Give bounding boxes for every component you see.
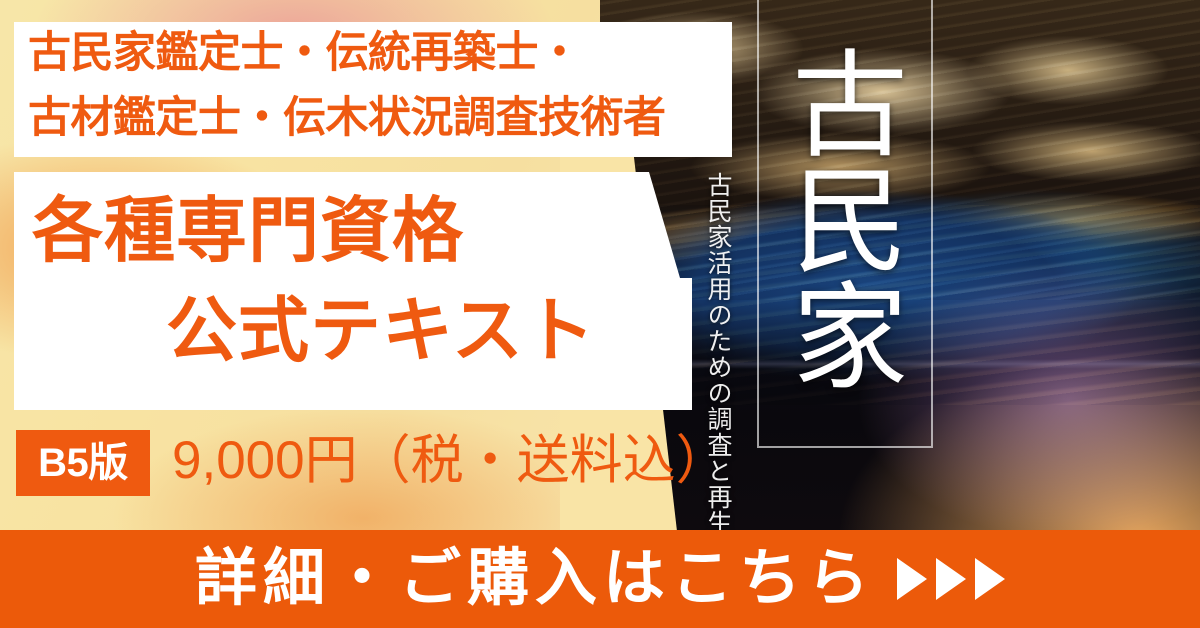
qualifications-line-1: 古民家鑑定士・伝統再築士・ — [28, 21, 666, 86]
qualifications-card: 古民家鑑定士・伝統再築士・ 古材鑑定士・伝木状況調査技術者 — [14, 22, 732, 157]
headline-line-2: 公式テキスト — [166, 296, 596, 367]
format-badge: B5版 — [16, 430, 150, 496]
chevron-right-icon — [897, 558, 927, 600]
chevron-right-icon — [975, 558, 1005, 600]
headline-card: 各種専門資格 公式テキスト — [14, 172, 694, 410]
price-text: 9,000円（税・送料込） — [172, 434, 729, 487]
cta-bar[interactable]: 詳細・ご購入はこちら — [0, 530, 1200, 628]
headline-line-1: 各種専門資格 — [32, 196, 464, 267]
cta-label: 詳細・ご購入はこちら — [195, 548, 875, 610]
cta-arrow-group — [897, 558, 1005, 600]
qualifications-text: 古民家鑑定士・伝統再築士・ 古材鑑定士・伝木状況調査技術者 — [28, 21, 666, 152]
format-badge-label: B5版 — [38, 443, 128, 483]
book-cover-title: 古民家 — [777, 8, 905, 428]
qualifications-line-2: 古材鑑定士・伝木状況調査技術者 — [28, 86, 666, 151]
promo-banner: 伝統構法、古民家活用のための調査と再生の 古民家 古民家鑑定士・伝統再築士・ 古… — [0, 0, 1200, 628]
chevron-right-icon — [936, 558, 966, 600]
